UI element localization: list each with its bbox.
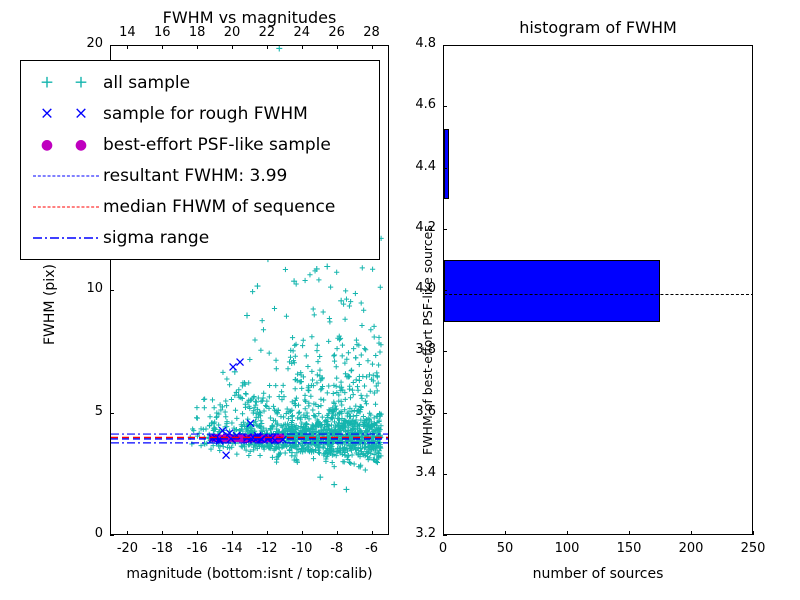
axis-tick: [162, 45, 163, 49]
axis-tick: [267, 45, 268, 49]
legend-marker-psf-like-sample: ● ●: [29, 133, 103, 157]
legend-label-median-fwhm: median FHWM of sequence: [103, 197, 335, 217]
left-ytick-0: 0: [95, 526, 103, 541]
left-top-xtick-20: 20: [224, 25, 241, 40]
right-xtick-250: 250: [741, 541, 766, 556]
right-ytick-3.2: 3.2: [415, 526, 436, 541]
right-xtick-100: 100: [555, 541, 580, 556]
axis-tick: [443, 229, 447, 230]
figure-canvas: FWHM vs magnitudes magnitude (bottom:isn…: [0, 0, 800, 600]
axis-tick: [110, 413, 114, 414]
axis-tick: [127, 531, 128, 535]
right-ytick-4.6: 4.6: [415, 97, 436, 112]
right-ytick-3.4: 3.4: [415, 465, 436, 480]
axis-tick: [443, 413, 447, 414]
left-xtick--16: -16: [187, 541, 208, 556]
legend-label-resultant-fwhm: resultant FWHM: 3.99: [103, 166, 287, 186]
left-top-xtick-16: 16: [154, 25, 171, 40]
axis-tick: [443, 351, 447, 352]
histogram-median-line: [444, 294, 752, 295]
legend-line-sigma-range: [29, 226, 103, 250]
right-ytick-4.8: 4.8: [415, 36, 436, 51]
left-xtick--14: -14: [221, 541, 242, 556]
axis-tick: [567, 531, 568, 535]
right-xtick-50: 50: [497, 541, 514, 556]
axis-tick: [337, 45, 338, 49]
left-plot-title: FWHM vs magnitudes: [110, 8, 389, 27]
legend-marker-all-sample: + +: [29, 71, 103, 95]
axis-tick: [267, 531, 268, 535]
legend-label-all-sample: all sample: [103, 73, 190, 93]
axis-tick: [691, 531, 692, 535]
left-xtick--10: -10: [291, 541, 312, 556]
axis-tick: [443, 106, 447, 107]
right-ytick-3.8: 3.8: [415, 342, 436, 357]
axis-tick: [443, 45, 447, 46]
axis-tick: [505, 531, 506, 535]
axis-tick: [443, 168, 447, 169]
plot-legend: + + all sample × × sample for rough FWHM…: [20, 60, 380, 260]
histogram-bar: [444, 260, 660, 321]
legend-line-median-fwhm: [29, 195, 103, 219]
axis-tick: [443, 290, 447, 291]
axis-tick: [232, 531, 233, 535]
right-xtick-0: 0: [439, 541, 447, 556]
dashdot-line-icon: [29, 228, 103, 248]
left-top-xtick-18: 18: [189, 25, 206, 40]
left-top-xtick-22: 22: [259, 25, 276, 40]
right-plot-title: histogram of FWHM: [443, 18, 753, 37]
left-xtick--12: -12: [256, 541, 277, 556]
legend-item[interactable]: × × sample for rough FWHM: [29, 98, 371, 129]
axis-tick: [302, 531, 303, 535]
left-top-xtick-24: 24: [294, 25, 311, 40]
left-ylabel: FWHM (pix): [42, 264, 58, 345]
left-xtick--20: -20: [117, 541, 138, 556]
axis-tick: [337, 531, 338, 535]
right-ylabel: FWHM of best-effort PSF-like sources: [420, 225, 435, 455]
axis-tick: [110, 290, 114, 291]
left-ytick-10: 10: [86, 281, 103, 296]
axis-tick: [753, 531, 754, 535]
right-xtick-200: 200: [679, 541, 704, 556]
axis-tick: [110, 535, 114, 536]
left-xtick--18: -18: [152, 541, 173, 556]
legend-item[interactable]: median FHWM of sequence: [29, 191, 371, 222]
fwhm-histogram-plot[interactable]: [443, 45, 753, 535]
axis-tick: [197, 45, 198, 49]
left-xlabel: magnitude (bottom:isnt / top:calib): [110, 566, 389, 582]
axis-tick: [443, 535, 447, 536]
legend-item[interactable]: ● ● best-effort PSF-like sample: [29, 129, 371, 160]
left-xtick--8: -8: [330, 541, 343, 556]
legend-item[interactable]: resultant FWHM: 3.99: [29, 160, 371, 191]
legend-item[interactable]: + + all sample: [29, 67, 371, 98]
axis-tick: [629, 531, 630, 535]
right-ytick-4.0: 4.0: [415, 281, 436, 296]
right-ytick-4.2: 4.2: [415, 220, 436, 235]
axis-tick: [443, 474, 447, 475]
legend-label-sigma-range: sigma range: [103, 228, 209, 248]
left-top-xtick-14: 14: [119, 25, 136, 40]
axis-tick: [372, 531, 373, 535]
right-ytick-3.6: 3.6: [415, 404, 436, 419]
axis-tick: [232, 45, 233, 49]
right-ytick-4.4: 4.4: [415, 159, 436, 174]
left-ytick-5: 5: [95, 404, 103, 419]
right-xtick-150: 150: [617, 541, 642, 556]
axis-tick: [302, 45, 303, 49]
left-xtick--6: -6: [365, 541, 378, 556]
axis-tick: [127, 45, 128, 49]
left-top-xtick-28: 28: [363, 25, 380, 40]
left-ytick-20: 20: [86, 36, 103, 51]
axis-tick: [372, 45, 373, 49]
legend-label-rough-fwhm-sample: sample for rough FWHM: [103, 104, 308, 124]
axis-tick: [162, 531, 163, 535]
right-xlabel: number of sources: [443, 566, 753, 582]
legend-line-resultant-fwhm: [29, 164, 103, 188]
legend-marker-rough-fwhm-sample: × ×: [29, 102, 103, 126]
axis-tick: [197, 531, 198, 535]
legend-label-psf-like-sample: best-effort PSF-like sample: [103, 135, 331, 155]
left-top-xtick-26: 26: [328, 25, 345, 40]
axis-tick: [110, 45, 114, 46]
histogram-bar: [444, 129, 449, 199]
right-plot-canvas: [444, 46, 752, 534]
legend-item[interactable]: sigma range: [29, 222, 371, 253]
